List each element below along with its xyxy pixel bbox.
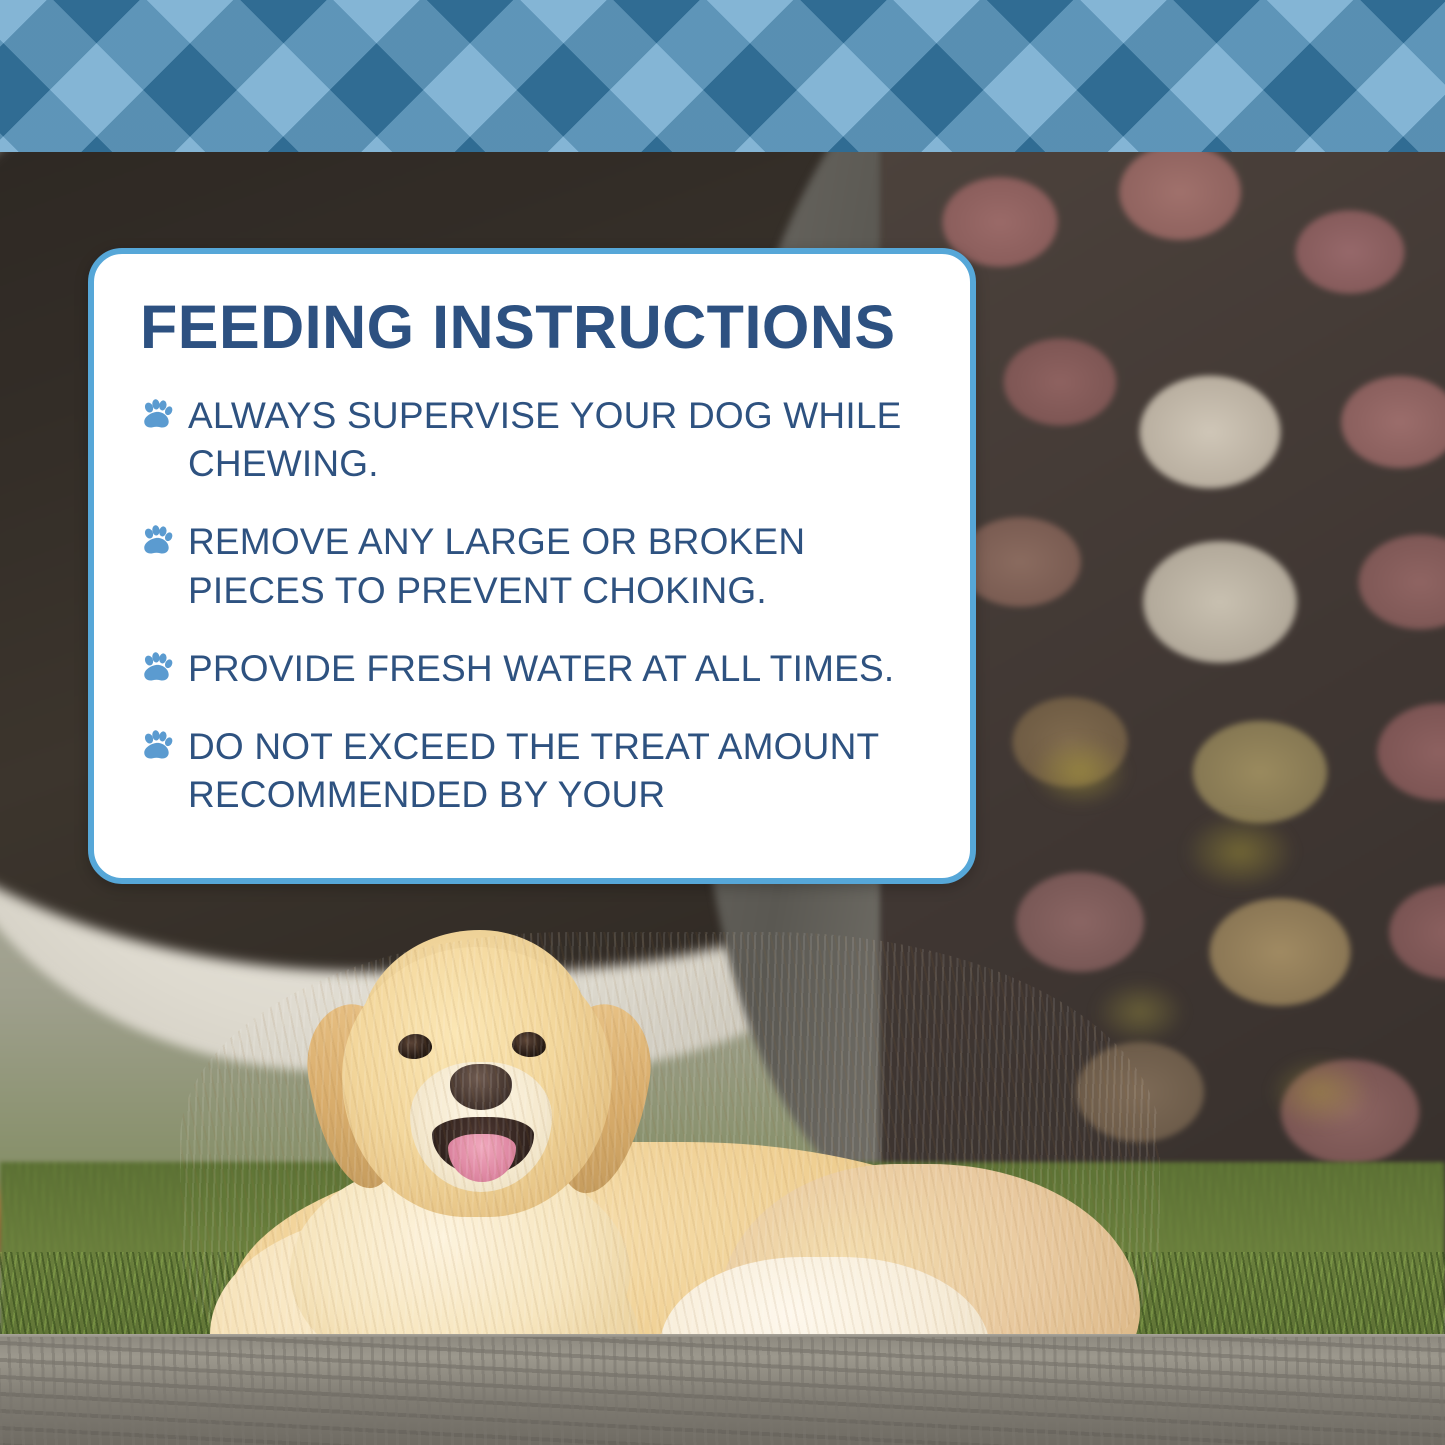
list-item-label: PROVIDE FRESH WATER AT ALL TIMES. — [188, 645, 894, 693]
paw-icon — [140, 524, 174, 558]
paw-icon — [140, 651, 174, 685]
list-item: ALWAYS SUPERVISE YOUR DOG WHILE CHEWING. — [140, 392, 924, 488]
list-item: PROVIDE FRESH WATER AT ALL TIMES. — [140, 645, 924, 693]
page-title: FEEDING INSTRUCTIONS — [140, 296, 924, 358]
stone-ledge — [0, 1337, 1445, 1445]
paw-icon — [140, 729, 174, 763]
gingham-banner — [0, 0, 1445, 152]
instructions-list: ALWAYS SUPERVISE YOUR DOG WHILE CHEWING.… — [140, 392, 924, 819]
product-info-graphic: FEEDING INSTRUCTIONS ALWAYS SUPERVISE YO… — [0, 0, 1445, 1445]
feeding-instructions-card: FEEDING INSTRUCTIONS ALWAYS SUPERVISE YO… — [88, 248, 976, 884]
list-item-label: ALWAYS SUPERVISE YOUR DOG WHILE CHEWING. — [188, 392, 924, 488]
gingham-stripes-b — [0, 0, 1445, 152]
list-item-label: DO NOT EXCEED THE TREAT AMOUNT RECOMMEND… — [188, 723, 924, 819]
list-item: DO NOT EXCEED THE TREAT AMOUNT RECOMMEND… — [140, 723, 924, 819]
list-item-label: REMOVE ANY LARGE OR BROKEN PIECES TO PRE… — [188, 518, 924, 614]
list-item: REMOVE ANY LARGE OR BROKEN PIECES TO PRE… — [140, 518, 924, 614]
paw-icon — [140, 398, 174, 432]
